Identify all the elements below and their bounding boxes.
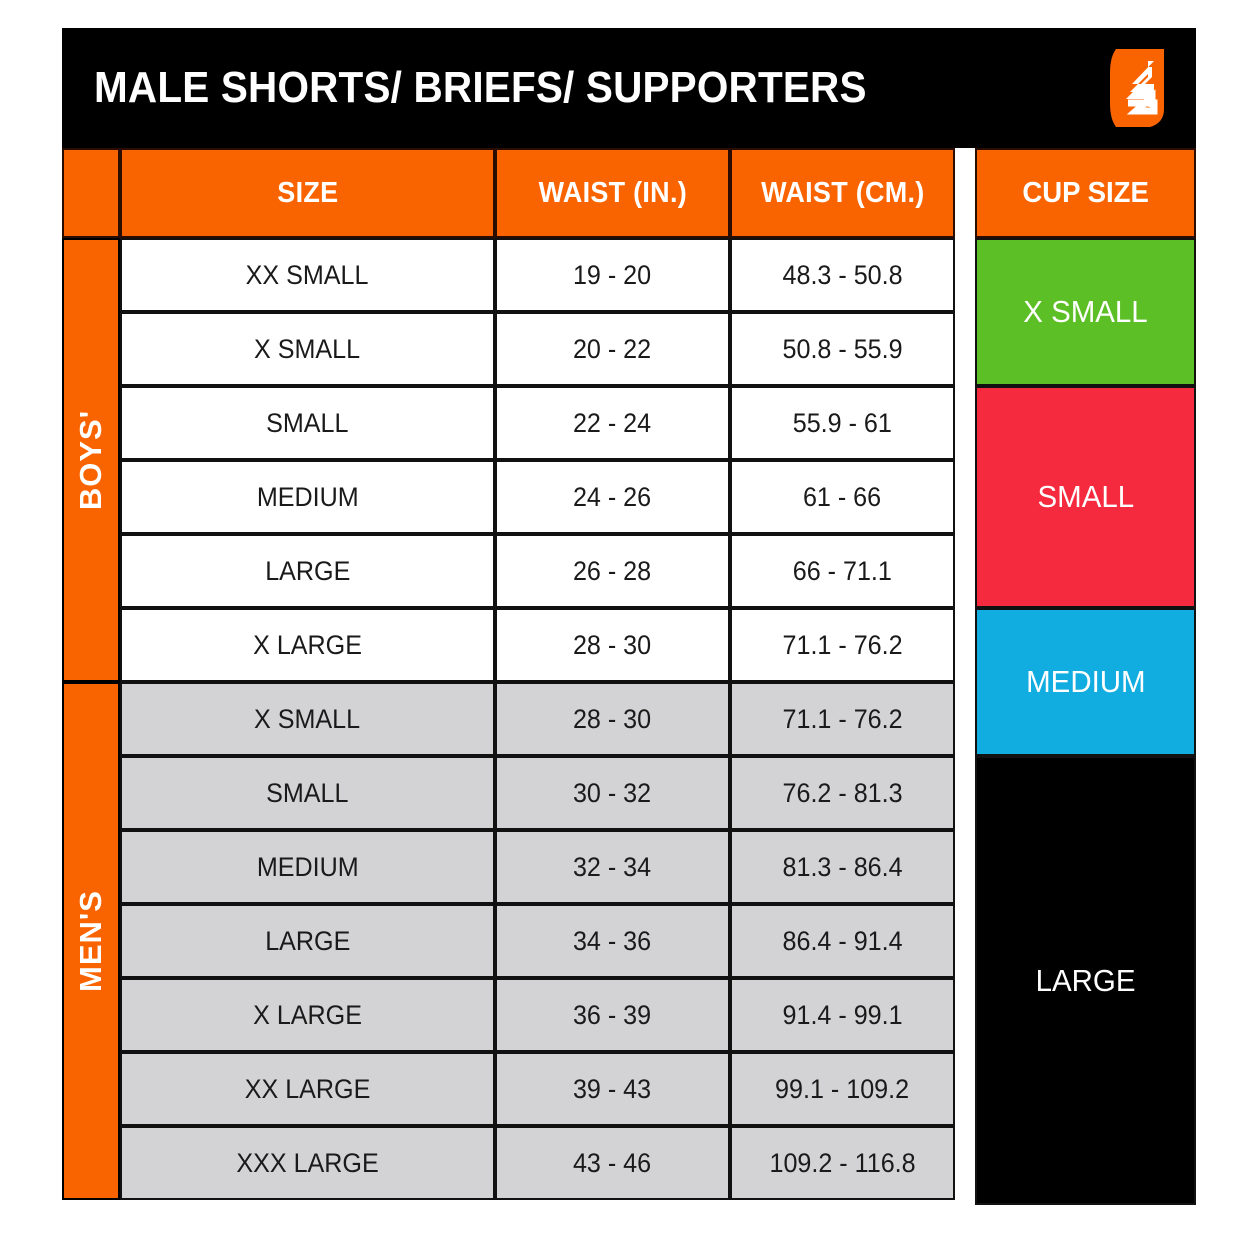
- cell-size: MEDIUM: [120, 460, 495, 534]
- cell-size: XXX LARGE: [120, 1126, 495, 1200]
- chart-body: BOYS' MEN'S SIZE WAIST (IN.): [62, 148, 1196, 1205]
- logo-mark: [1108, 47, 1174, 129]
- measurements-grid: SIZE WAIST (IN.) WAIST (CM.) XX SMALL 19…: [120, 148, 955, 1200]
- cell-waist-cm: 61 - 66: [730, 460, 955, 534]
- table-header-row: SIZE WAIST (IN.) WAIST (CM.): [120, 148, 955, 238]
- shock-doctor-logo: [1108, 47, 1174, 129]
- cell-waist-cm: 48.3 - 50.8: [730, 238, 955, 312]
- table-row: XXX LARGE 43 - 46 109.2 - 116.8: [120, 1126, 955, 1200]
- table-row: X SMALL 28 - 30 71.1 - 76.2: [120, 682, 955, 756]
- cell-waist-in: 32 - 34: [495, 830, 730, 904]
- group-rail-boys: BOYS': [62, 238, 120, 682]
- table-row: LARGE 34 - 36 86.4 - 91.4: [120, 904, 955, 978]
- cell-waist-in: 19 - 20: [495, 238, 730, 312]
- cell-waist-cm: 71.1 - 76.2: [730, 682, 955, 756]
- cell-waist-in: 39 - 43: [495, 1052, 730, 1126]
- column-header-size: SIZE: [120, 148, 495, 238]
- cup-size-column: CUP SIZE X SMALL SMALL MEDIUM LARGE: [975, 148, 1196, 1205]
- table-row: X LARGE 28 - 30 71.1 - 76.2: [120, 608, 955, 682]
- cell-waist-cm: 99.1 - 109.2: [730, 1052, 955, 1126]
- chart-header: MALE SHORTS/ BRIEFS/ SUPPORTERS: [62, 28, 1196, 148]
- column-header-waist-cm: WAIST (CM.): [730, 148, 955, 238]
- cell-size: MEDIUM: [120, 830, 495, 904]
- cell-size: X SMALL: [120, 312, 495, 386]
- group-label-mens: MEN'S: [73, 890, 109, 992]
- cup-size-small: SMALL: [975, 386, 1196, 608]
- cell-waist-cm: 86.4 - 91.4: [730, 904, 955, 978]
- cup-size-large: LARGE: [975, 756, 1196, 1205]
- cup-size-header: CUP SIZE: [975, 148, 1196, 238]
- cell-waist-cm: 91.4 - 99.1: [730, 978, 955, 1052]
- size-chart-page: MALE SHORTS/ BRIEFS/ SUPPORTERS BOYS': [0, 0, 1260, 1260]
- cell-waist-cm: 81.3 - 86.4: [730, 830, 955, 904]
- table-row: MEDIUM 32 - 34 81.3 - 86.4: [120, 830, 955, 904]
- group-rail-mens: MEN'S: [62, 682, 120, 1200]
- page-title: MALE SHORTS/ BRIEFS/ SUPPORTERS: [94, 63, 867, 113]
- column-header-waist-in: WAIST (IN.): [495, 148, 730, 238]
- measurements-table: BOYS' MEN'S SIZE WAIST (IN.): [62, 148, 955, 1205]
- table-row: SMALL 22 - 24 55.9 - 61: [120, 386, 955, 460]
- cell-waist-cm: 71.1 - 76.2: [730, 608, 955, 682]
- cup-size-x-small: X SMALL: [975, 238, 1196, 386]
- table-row: MEDIUM 24 - 26 61 - 66: [120, 460, 955, 534]
- cell-waist-in: 28 - 30: [495, 608, 730, 682]
- table-row: LARGE 26 - 28 66 - 71.1: [120, 534, 955, 608]
- table-row: SMALL 30 - 32 76.2 - 81.3: [120, 756, 955, 830]
- cell-waist-cm: 76.2 - 81.3: [730, 756, 955, 830]
- cell-size: LARGE: [120, 534, 495, 608]
- cell-waist-in: 20 - 22: [495, 312, 730, 386]
- size-chart: MALE SHORTS/ BRIEFS/ SUPPORTERS BOYS': [62, 28, 1196, 1205]
- rail-header-stub: [62, 148, 120, 238]
- cell-size: SMALL: [120, 756, 495, 830]
- cell-waist-in: 36 - 39: [495, 978, 730, 1052]
- cell-waist-in: 43 - 46: [495, 1126, 730, 1200]
- cell-waist-in: 30 - 32: [495, 756, 730, 830]
- cell-waist-cm: 66 - 71.1: [730, 534, 955, 608]
- cell-size: X LARGE: [120, 978, 495, 1052]
- cell-waist-in: 26 - 28: [495, 534, 730, 608]
- group-label-boys: BOYS': [73, 410, 109, 510]
- cell-waist-cm: 55.9 - 61: [730, 386, 955, 460]
- cell-waist-cm: 109.2 - 116.8: [730, 1126, 955, 1200]
- cell-waist-in: 22 - 24: [495, 386, 730, 460]
- cell-size: LARGE: [120, 904, 495, 978]
- cell-waist-cm: 50.8 - 55.9: [730, 312, 955, 386]
- cell-size: SMALL: [120, 386, 495, 460]
- cell-size: X SMALL: [120, 682, 495, 756]
- cell-waist-in: 28 - 30: [495, 682, 730, 756]
- table-row: XX SMALL 19 - 20 48.3 - 50.8: [120, 238, 955, 312]
- cell-waist-in: 34 - 36: [495, 904, 730, 978]
- table-row: X SMALL 20 - 22 50.8 - 55.9: [120, 312, 955, 386]
- table-row: X LARGE 36 - 39 91.4 - 99.1: [120, 978, 955, 1052]
- cell-size: XX LARGE: [120, 1052, 495, 1126]
- cup-size-medium: MEDIUM: [975, 608, 1196, 756]
- cell-size: X LARGE: [120, 608, 495, 682]
- cell-size: XX SMALL: [120, 238, 495, 312]
- cell-waist-in: 24 - 26: [495, 460, 730, 534]
- table-row: XX LARGE 39 - 43 99.1 - 109.2: [120, 1052, 955, 1126]
